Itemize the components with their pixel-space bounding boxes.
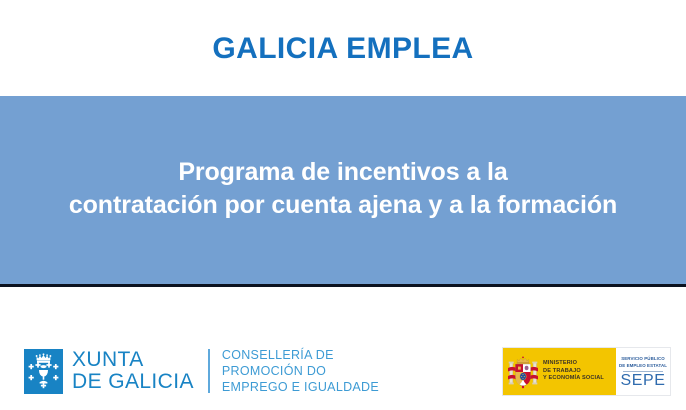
sepe-block: SERVICIO PÚBLICO DE EMPLEO ESTATAL SEPE bbox=[616, 348, 670, 395]
banner-line-1: Programa de incentivos a la bbox=[13, 156, 673, 190]
ministerio-sepe-logo: MINISTERIO DE TRABAJO Y ECONOMÍA SOCIAL … bbox=[503, 348, 670, 395]
ministerio-line-1: MINISTERIO bbox=[543, 360, 604, 368]
program-banner: Programa de incentivos a la contratación… bbox=[0, 96, 686, 284]
xunta-name-line-2: DE GALICIA bbox=[72, 371, 194, 393]
ministerio-block: MINISTERIO DE TRABAJO Y ECONOMÍA SOCIAL bbox=[503, 348, 616, 395]
conselleria-line-2: PROMOCIÓN DO bbox=[222, 363, 379, 379]
ministerio-line-3: Y ECONOMÍA SOCIAL bbox=[543, 375, 604, 383]
banner-line-2: contratación por cuenta ajena y a la for… bbox=[13, 189, 673, 223]
conselleria-wordmark: CONSELLERÍA DE PROMOCIÓN DO EMPREGO E IG… bbox=[222, 347, 379, 395]
sepe-subtitle-line-1: SERVICIO PÚBLICO bbox=[619, 356, 667, 362]
sepe-subtitle: SERVICIO PÚBLICO DE EMPLEO ESTATAL bbox=[619, 356, 667, 369]
conselleria-line-1: CONSELLERÍA DE bbox=[222, 347, 379, 363]
footer-logos: XUNTA DE GALICIA CONSELLERÍA DE PROMOCIÓ… bbox=[0, 287, 686, 410]
header-area: GALICIA EMPLEA bbox=[0, 0, 686, 96]
ministerio-wordmark: MINISTERIO DE TRABAJO Y ECONOMÍA SOCIAL bbox=[543, 360, 604, 384]
conselleria-line-3: EMPREGO E IGUALDADE bbox=[222, 379, 379, 395]
spain-coat-of-arms-icon bbox=[508, 354, 538, 390]
galicia-coat-of-arms-icon bbox=[24, 349, 63, 394]
xunta-de-galicia-logo: XUNTA DE GALICIA CONSELLERÍA DE PROMOCIÓ… bbox=[24, 347, 379, 395]
banner-text: Programa de incentivos a la contratación… bbox=[13, 156, 673, 223]
sepe-wordmark: SEPE bbox=[620, 373, 665, 389]
sepe-subtitle-line-2: DE EMPLEO ESTATAL bbox=[619, 363, 667, 369]
xunta-wordmark: XUNTA DE GALICIA bbox=[72, 349, 194, 394]
page-title: GALICIA EMPLEA bbox=[212, 34, 473, 64]
xunta-name-line-1: XUNTA bbox=[72, 349, 194, 371]
logo-divider bbox=[208, 349, 210, 393]
